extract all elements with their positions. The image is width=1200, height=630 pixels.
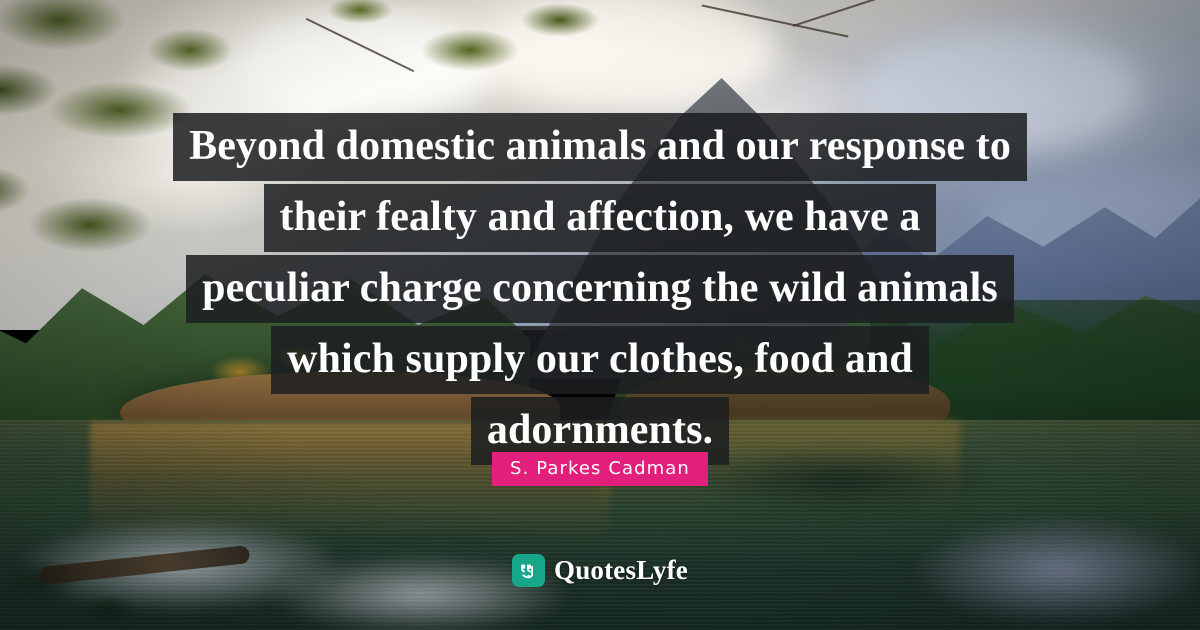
quote-marks-icon bbox=[512, 554, 545, 587]
quote-line-text: Beyond domestic animals and our response… bbox=[173, 113, 1027, 181]
brand-name: QuotesLyfe bbox=[554, 555, 688, 586]
quote-line-text: peculiar charge concerning the wild anim… bbox=[186, 255, 1014, 323]
brand-logo[interactable]: QuotesLyfe bbox=[0, 554, 1200, 587]
quote-line: which supply our clothes, food and bbox=[0, 326, 1200, 394]
quote-card: Beyond domestic animals and our response… bbox=[0, 0, 1200, 630]
quote-line-text: their fealty and affection, we have a bbox=[264, 184, 937, 252]
author-name-badge[interactable]: S. Parkes Cadman bbox=[492, 452, 708, 486]
quote-line: peculiar charge concerning the wild anim… bbox=[0, 255, 1200, 323]
quote-text: Beyond domestic animals and our response… bbox=[0, 113, 1200, 468]
author-attribution: S. Parkes Cadman bbox=[0, 452, 1200, 486]
quote-line: their fealty and affection, we have a bbox=[0, 184, 1200, 252]
quote-line: Beyond domestic animals and our response… bbox=[0, 113, 1200, 181]
tree-branch-top bbox=[300, 0, 860, 120]
quote-line-text: which supply our clothes, food and bbox=[271, 326, 929, 394]
